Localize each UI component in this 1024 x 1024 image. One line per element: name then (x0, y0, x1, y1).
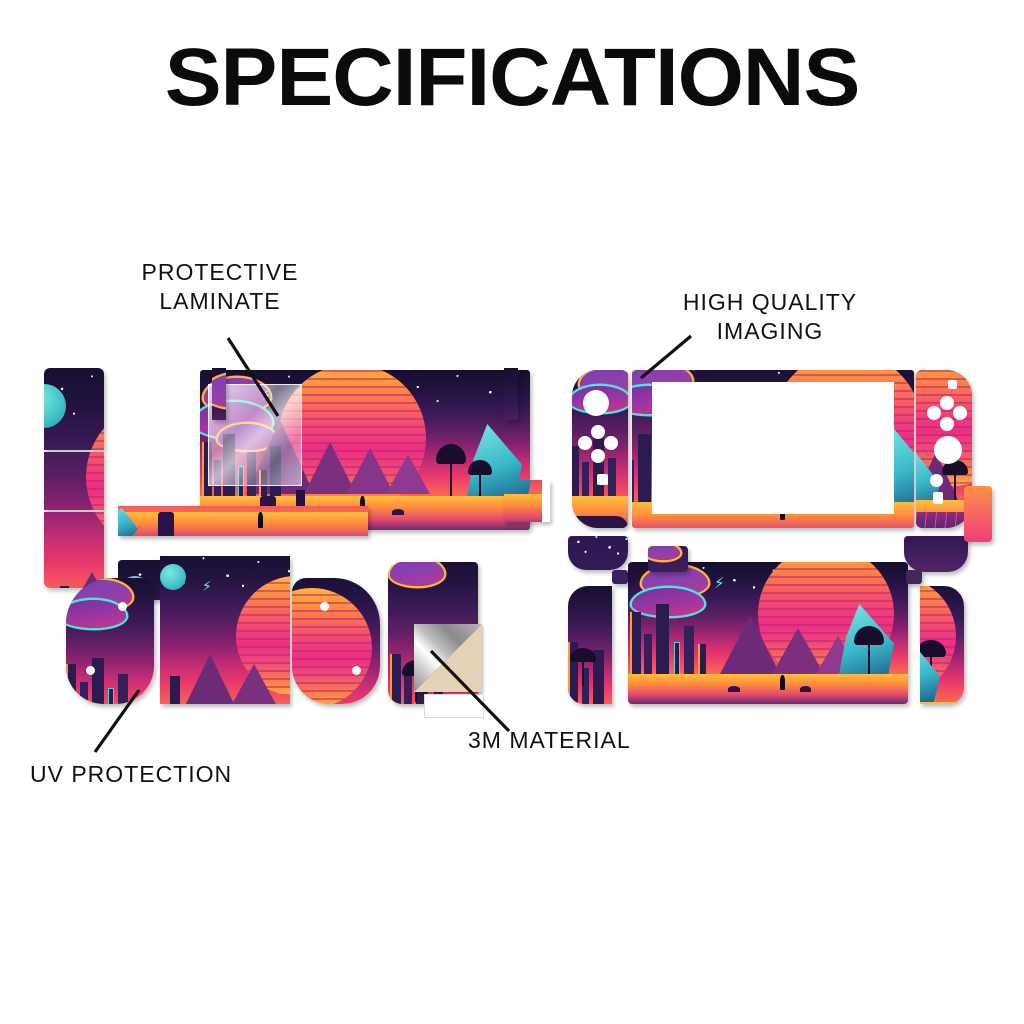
specifications-page: SPECIFICATIONS (0, 0, 1024, 1024)
skin-piece-left-joycon-front[interactable] (572, 370, 628, 528)
left-stick-hole (583, 390, 609, 416)
dpad-down-hole (591, 449, 605, 463)
skin-piece-console-right-edge-strip[interactable] (504, 480, 550, 522)
skin-piece-back-tab-right[interactable] (904, 536, 968, 572)
dpad-left-hole (578, 436, 592, 450)
page-title: SPECIFICATIONS (0, 34, 1024, 122)
home-button-hole (930, 474, 943, 487)
skin-piece-right-joycon-rail[interactable] (292, 578, 380, 704)
callout-label-protective-laminate: PROTECTIVE LAMINATE (60, 258, 380, 316)
skin-piece-console-left-tab[interactable] (212, 368, 226, 420)
callout-label-3m-material: 3M MATERIAL (400, 726, 760, 755)
sun (86, 452, 104, 510)
skin-piece-console-back-panel[interactable]: ⚡ (628, 562, 908, 704)
skin-piece-console-bottom-panel[interactable]: ⚡ (160, 556, 290, 704)
capture-button-hole (597, 474, 608, 485)
skin-piece-console-right-tab[interactable] (504, 368, 518, 420)
sun (86, 402, 104, 450)
plus-button-hole (948, 380, 957, 389)
skin-piece-back-micro-tab-right[interactable] (906, 570, 922, 584)
3m-peel-swatch[interactable] (414, 624, 482, 692)
y-button-hole (927, 406, 941, 420)
skin-piece-right-joycon-side-strip[interactable] (964, 486, 992, 542)
skin-piece-back-micro-tab-left[interactable] (612, 570, 628, 584)
rail-screw-hole (86, 666, 95, 675)
console-screen-cutout[interactable] (652, 382, 894, 514)
skin-piece-console-screen-bezel[interactable] (632, 370, 914, 528)
skin-piece-back-tab-left[interactable] (568, 536, 628, 570)
skin-piece-bottom-cutout (424, 694, 484, 718)
skin-piece-left-side-strip-bottom[interactable] (44, 512, 104, 588)
b-button-hole (940, 417, 954, 431)
skin-piece-right-back-rail[interactable] (920, 586, 964, 704)
dpad-right-hole (604, 436, 618, 450)
dpad-up-hole (591, 425, 605, 439)
a-button-hole (953, 406, 967, 420)
palm-tree (436, 444, 466, 496)
skin-piece-left-side-strip-middle[interactable] (44, 452, 104, 510)
x-button-hole (940, 396, 954, 410)
callout-label-uv-protection: UV PROTECTION (0, 760, 300, 789)
skin-piece-left-side-strip-top[interactable] (44, 368, 104, 450)
callout-label-high-quality-imaging: HIGH QUALITY IMAGING (600, 288, 940, 346)
palm-tree (468, 460, 492, 500)
right-stick-hole (934, 436, 962, 464)
rail-screw-hole (352, 666, 361, 675)
skin-piece-left-back-rail[interactable] (568, 586, 612, 704)
rail-screw-hole (320, 602, 329, 611)
skin-piece-left-joycon-rail[interactable] (66, 578, 154, 704)
skin-piece-top-edge-strip[interactable] (118, 506, 368, 536)
skin-piece-back-tab-center[interactable] (648, 546, 688, 572)
ir-sensor-hole (933, 492, 943, 504)
rail-screw-hole (118, 602, 127, 611)
